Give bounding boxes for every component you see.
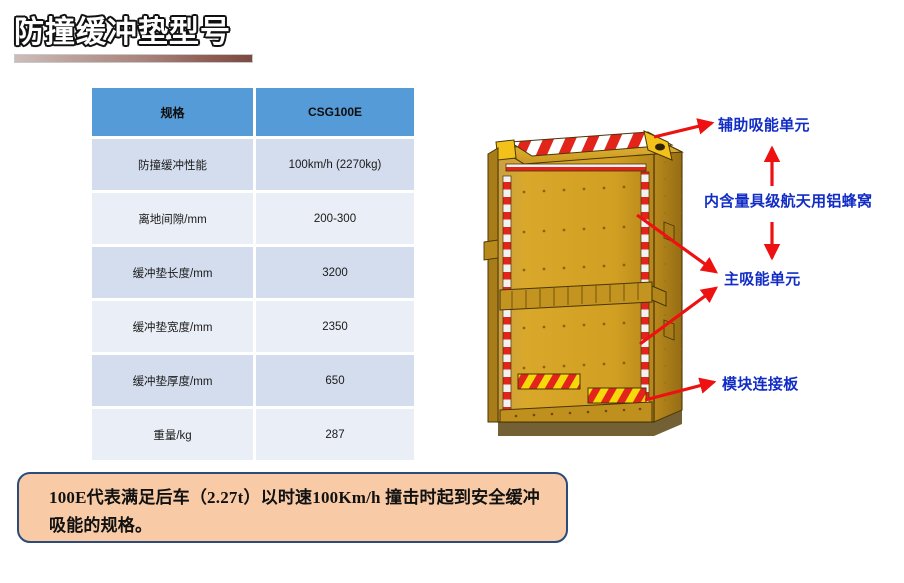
table-row: 防撞缓冲性能 100km/h (2270kg) [92,139,414,193]
row-label: 缓冲垫厚度/mm [92,355,256,409]
row-label: 离地间隙/mm [92,193,256,247]
crash-cushion-illustration [476,92,700,452]
title-underline-bar [14,54,253,63]
row-label: 缓冲垫长度/mm [92,247,256,301]
caption-text: 100E代表满足后车（2.27t）以时速100Km/h 撞击时起到安全缓冲吸能的… [49,484,549,540]
row-value: 3200 [256,247,414,301]
table-row: 缓冲垫宽度/mm 2350 [92,301,414,355]
row-value: 287 [256,409,414,460]
callout-main-unit: 主吸能单元 [724,268,801,289]
spec-table: 规格 CSG100E 防撞缓冲性能 100km/h (2270kg) 离地间隙/… [92,88,414,460]
row-label: 防撞缓冲性能 [92,139,256,193]
title-block: 防撞缓冲垫型号 [14,16,334,50]
row-value: 2350 [256,301,414,355]
column-header-model: CSG100E [256,88,414,139]
table-row: 重量/kg 287 [92,409,414,460]
row-label: 缓冲垫宽度/mm [92,301,256,355]
callout-aux-unit: 辅助吸能单元 [718,114,810,135]
row-value: 650 [256,355,414,409]
table-row: 缓冲垫厚度/mm 650 [92,355,414,409]
row-value: 200-300 [256,193,414,247]
callout-honeycomb: 内含量具级航天用铝蜂窝 [704,190,872,211]
row-label: 重量/kg [92,409,256,460]
row-value: 100km/h (2270kg) [256,139,414,193]
caption-box: 100E代表满足后车（2.27t）以时速100Km/h 撞击时起到安全缓冲吸能的… [17,472,568,543]
slide-canvas: 防撞缓冲垫型号 规格 CSG100E 防撞缓冲性能 100km/h (2270k… [0,0,904,583]
column-header-spec: 规格 [92,88,256,139]
table-row: 缓冲垫长度/mm 3200 [92,247,414,301]
table-row: 离地间隙/mm 200-300 [92,193,414,247]
page-title: 防撞缓冲垫型号 [14,16,334,50]
table-header-row: 规格 CSG100E [92,88,414,139]
callout-module-plate: 模块连接板 [722,373,799,394]
